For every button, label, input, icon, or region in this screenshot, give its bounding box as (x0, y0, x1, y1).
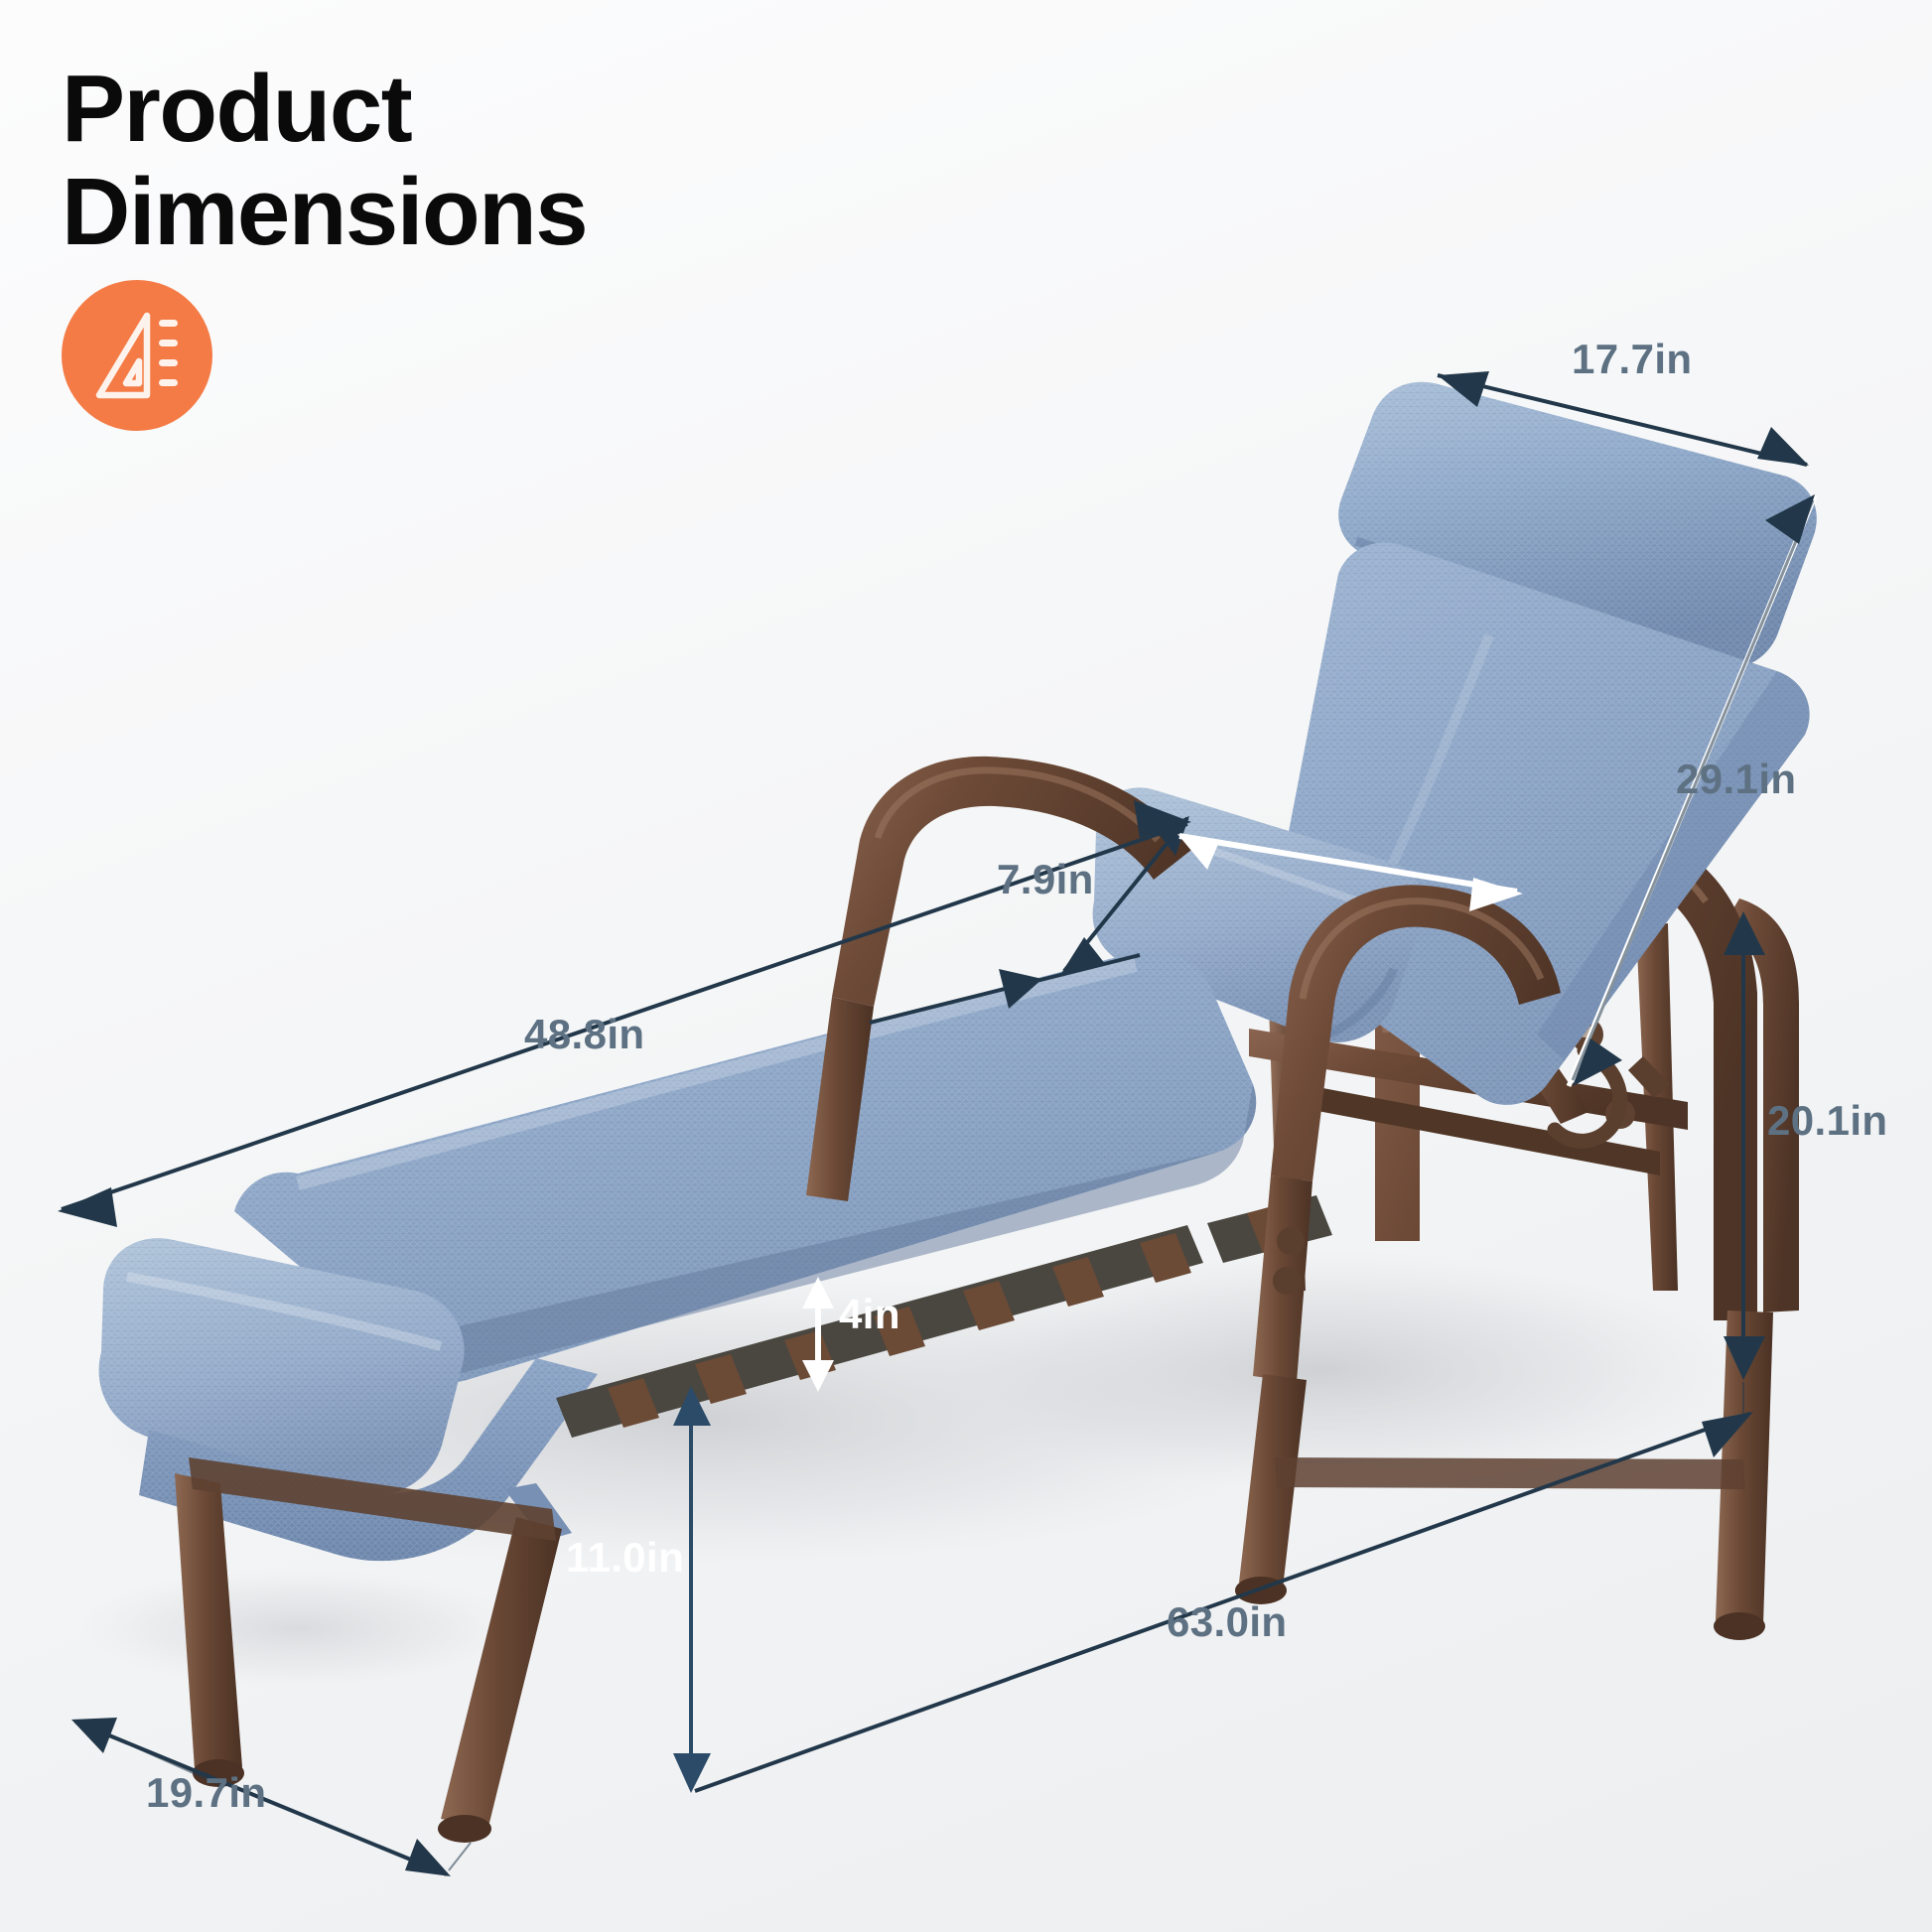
title-line-2: Dimensions (62, 161, 876, 264)
dimension-label-seat-length: 48.8in (524, 1011, 644, 1058)
product-illustration (0, 0, 1932, 1932)
dimension-label-armrest-depth: 7.9in (997, 856, 1094, 903)
page-title: Product Dimensions (62, 58, 876, 263)
dimension-label-seat-height-back: 20.1in (1767, 1097, 1887, 1145)
ruler-triangle-icon (62, 280, 212, 431)
product-dimensions-infographic: Product Dimensions 17.7in 29.1in 7.9in 4… (0, 0, 1932, 1932)
dimension-label-backrest-length: 29.1in (1676, 756, 1796, 803)
dimension-label-cushion-thickness: 4in (839, 1291, 900, 1338)
dimension-label-overall-width: 19.7in (146, 1769, 266, 1817)
title-line-1: Product (62, 58, 876, 161)
dimension-label-seat-height-front: 11.0in (566, 1534, 684, 1582)
dimension-label-overall-length: 63.0in (1167, 1598, 1287, 1646)
dimension-label-backrest-width: 17.7in (1572, 336, 1692, 383)
